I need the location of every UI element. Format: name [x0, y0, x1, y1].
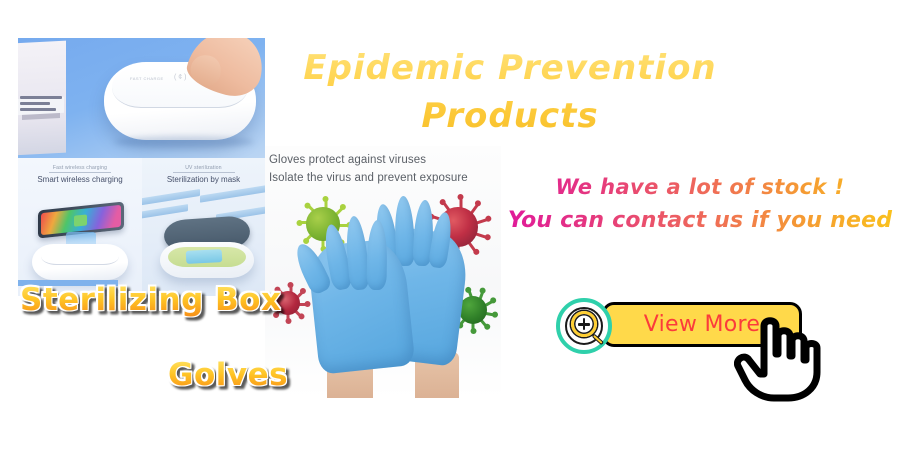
view-more-cta[interactable]: View More — [556, 298, 804, 354]
device-lid-symbol: ( ¢ ) — [174, 74, 186, 81]
magnifier-handle — [592, 334, 604, 346]
panel-uv-sterilization: UV sterilization Sterilization by mask — [142, 158, 265, 296]
label-gloves: Golves — [168, 357, 288, 393]
headline-line-1: Epidemic Prevention — [303, 48, 716, 88]
promo-banner: FAST CHARGE ( ¢ ) Fast wireless charging… — [0, 0, 900, 450]
device-lid-text: FAST CHARGE — [130, 76, 164, 81]
panel-a-big-label: Smart wireless charging — [18, 175, 142, 184]
label-sterilizing-box: Sterilizing Box — [20, 282, 281, 318]
panel-b-small-label: UV sterilization — [142, 165, 265, 171]
magnifier-plus-icon[interactable] — [556, 298, 612, 354]
panel-wireless-charging: Fast wireless charging Smart wireless ch… — [18, 158, 142, 296]
gloves-caption-line1: Gloves protect against viruses — [269, 154, 426, 166]
open-device-base — [160, 242, 254, 278]
panel-a-small-label: Fast wireless charging — [18, 165, 142, 171]
promo-text: We have a lot of stock ! You can contact… — [505, 170, 895, 238]
headline-line-2: Products — [280, 92, 740, 140]
promo-line-2: You can contact us if you need — [505, 204, 895, 238]
package-label-lines — [20, 96, 66, 116]
device-shadow — [114, 136, 254, 148]
gloves-photo[interactable]: Gloves protect against viruses Isolate t… — [265, 146, 501, 398]
face-mask-inside — [186, 249, 223, 264]
sterilizing-box-photo[interactable]: FAST CHARGE ( ¢ ) Fast wireless charging… — [18, 38, 265, 296]
plus-vertical — [583, 318, 586, 330]
background-bars — [142, 188, 265, 222]
banner-headline: Epidemic Prevention Products — [280, 44, 740, 140]
pointing-hand-cursor — [734, 310, 822, 402]
gloves-caption-line2: Isolate the virus and prevent exposure — [269, 172, 468, 184]
photo-bottom-panels: Fast wireless charging Smart wireless ch… — [18, 158, 265, 296]
photo-top-scene: FAST CHARGE ( ¢ ) — [18, 38, 265, 158]
charging-base — [32, 244, 128, 280]
panel-b-big-label: Sterilization by mask — [142, 175, 265, 184]
promo-line-1: We have a lot of stock ! — [505, 170, 895, 204]
